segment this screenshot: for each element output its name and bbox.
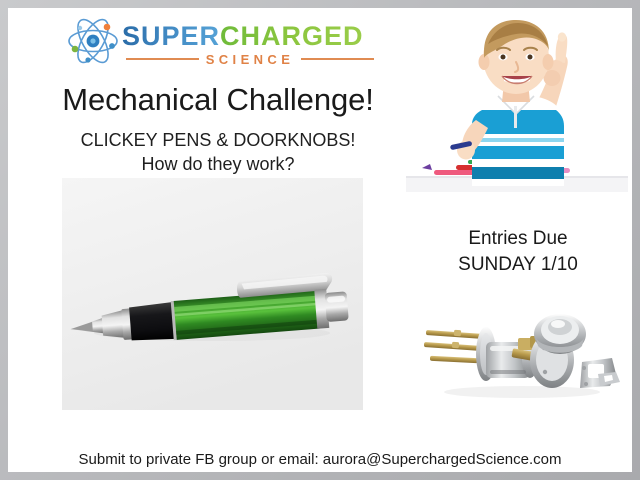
boy-pointing-up-photo (406, 10, 628, 192)
disassembled-doorknob-parts-photo (412, 300, 628, 404)
entries-due-label: Entries Due (413, 226, 623, 252)
logo-word-charged: CHARGED (220, 21, 364, 51)
right-doorknob (534, 314, 586, 354)
slide-frame: SUPERCHARGED SCIENCE Mechanical Challeng… (0, 0, 640, 480)
page-title: Mechanical Challenge! (32, 82, 404, 118)
logo-wordmark: SUPERCHARGED (122, 22, 374, 50)
entries-due-date: SUNDAY 1/10 (413, 252, 623, 278)
slide-canvas: SUPERCHARGED SCIENCE Mechanical Challeng… (8, 8, 632, 472)
subtitle-line-2: How do they work? (32, 154, 404, 175)
pen-photo-artwork (62, 178, 363, 410)
brass-screws-group (424, 330, 484, 363)
green-clicky-pen-photo (62, 178, 363, 410)
boy-photo-artwork (406, 10, 628, 192)
atom-icon (66, 18, 120, 64)
subtitle-line-1: CLICKEY PENS & DOORKNOBS! (32, 130, 404, 151)
footer-submit-text: Submit to private FB group or email: aur… (28, 451, 612, 468)
logo-subline: SCIENCE (126, 51, 374, 67)
doorknob-photo-artwork (412, 300, 628, 404)
logo-word-super: SUPER (122, 21, 220, 51)
entries-due-block: Entries Due SUNDAY 1/10 (413, 226, 623, 278)
logo-word-science: SCIENCE (206, 52, 295, 67)
supercharged-science-logo: SUPERCHARGED SCIENCE (66, 16, 376, 70)
logo-rule-right (301, 58, 374, 60)
logo-rule-left (126, 58, 199, 60)
